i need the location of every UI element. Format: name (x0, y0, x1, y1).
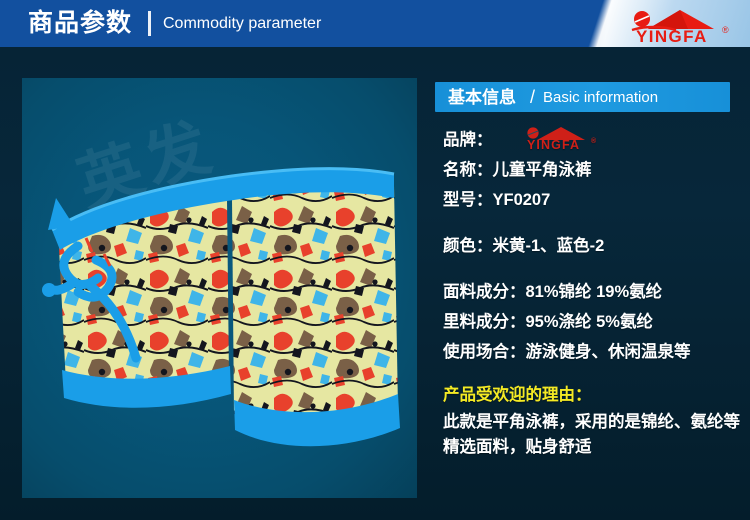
drawstring-tip (42, 283, 56, 297)
spec-label-model: 型号： (443, 191, 493, 209)
spec-label-brand: 品牌： (443, 125, 493, 155)
brand-yingfa-logo: YINGFA ® (517, 124, 603, 152)
brand-wordmark: YINGFA (527, 138, 580, 152)
spec-label-shell-fabric: 面料成分： (443, 283, 526, 301)
brand-registered-mark: ® (591, 137, 597, 145)
title-divider (148, 11, 151, 36)
spec-value-usage: 游泳健身、休闲温泉等 (526, 343, 691, 361)
basic-info-title-cn: 基本信息 (448, 86, 516, 109)
reason-description: 此款是平角泳裤，采用的是锦纶、氨纶等精选面料，贴身舒适 (443, 410, 743, 460)
page-header: 商品参数 Commodity parameter YINGFA ® (0, 0, 750, 47)
yingfa-logo: YINGFA ® (618, 5, 736, 45)
basic-info-slash: / (530, 85, 535, 109)
spec-row-usage: 使用场合：游泳健身、休闲温泉等 (443, 337, 750, 367)
info-panel: 基本信息 / Basic information 品牌： YINGFA ® (425, 60, 750, 510)
product-spec-page: 商品参数 Commodity parameter YINGFA ® 英发 (0, 0, 750, 520)
spec-label-usage: 使用场合： (443, 343, 526, 361)
waistband-peak (48, 198, 74, 230)
swim-trunks-illustration (22, 78, 417, 498)
spec-value-lining-fabric: 95%涤纶 5%氨纶 (526, 313, 653, 331)
spec-value-name: 儿童平角泳裤 (493, 161, 592, 179)
spec-row-shell-fabric: 面料成分：81%锦纶 19%氨纶 (443, 277, 750, 307)
product-photo-panel: 英发 (22, 78, 417, 498)
spec-row-lining-fabric: 里料成分：95%涤纶 5%氨纶 (443, 307, 750, 337)
spec-row-model: 型号：YF0207 (443, 185, 750, 215)
basic-information-bar: 基本信息 / Basic information (435, 82, 730, 112)
spec-rows: 品牌： YINGFA ® 名称：儿童平角泳裤 (443, 125, 750, 460)
page-subtitle: Commodity parameter (163, 13, 321, 35)
spec-value-color: 米黄-1、蓝色-2 (493, 237, 605, 255)
spec-row-brand: 品牌： YINGFA ® (443, 125, 750, 155)
spec-row-name: 名称：儿童平角泳裤 (443, 155, 750, 185)
logo-wordmark: YINGFA (636, 27, 708, 45)
reason-heading: 产品受欢迎的理由： (443, 381, 750, 410)
spec-value-shell-fabric: 81%锦纶 19%氨纶 (526, 283, 663, 301)
spec-row-color: 颜色：米黄-1、蓝色-2 (443, 231, 750, 261)
spec-label-color: 颜色： (443, 237, 493, 255)
spec-value-model: YF0207 (493, 191, 551, 209)
registered-mark: ® (722, 25, 729, 35)
basic-info-title-en: Basic information (543, 88, 658, 108)
page-title: 商品参数 (28, 7, 132, 40)
spec-label-name: 名称： (443, 161, 493, 179)
spec-label-lining-fabric: 里料成分： (443, 313, 526, 331)
